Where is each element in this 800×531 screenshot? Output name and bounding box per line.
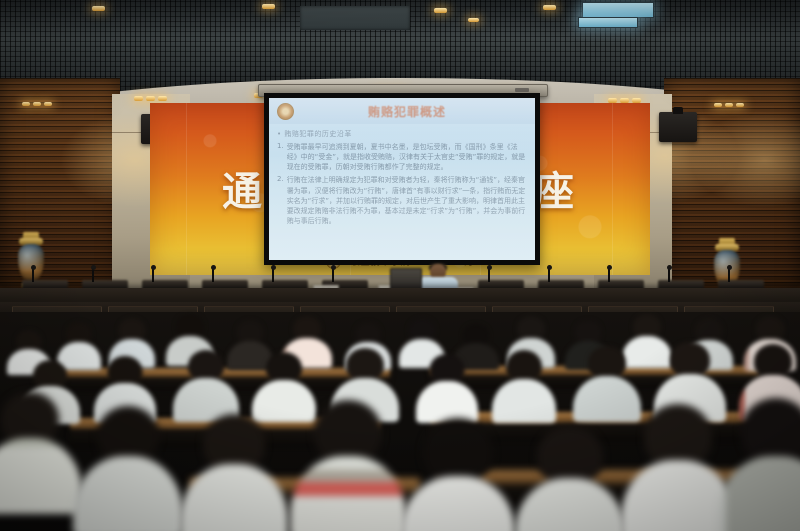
ceiling-downlight — [468, 18, 479, 22]
audience-member — [296, 400, 400, 531]
table-microphone — [608, 268, 610, 282]
ceiling-downlight — [262, 4, 275, 9]
table-microphone — [728, 268, 730, 282]
water-bottle — [600, 378, 607, 397]
government-emblem-icon — [277, 103, 294, 120]
projection-screen: 贿赂犯罪概述 • 贿赂犯罪的历史沿革 1. 受贿罪最早可追溯到夏朝，夏书中名墨，… — [264, 93, 540, 265]
slide-body: • 贿赂犯罪的历史沿革 1. 受贿罪最早可追溯到夏朝，夏书中名墨，是包坛受贿，而… — [269, 124, 535, 226]
table-microphone — [488, 268, 490, 282]
slide-title: 贿赂犯罪概述 — [294, 103, 520, 120]
water-bottle — [728, 470, 740, 504]
table-microphone — [668, 268, 670, 282]
soffit-spotlight — [736, 103, 744, 107]
soffit-spotlight — [146, 96, 155, 101]
slide-bullet-text: 行贿在法律上明确规定为犯罪和对受贿者为轻，秦将行贿称为“通钱”，经秦官署为罪，汉… — [287, 175, 527, 226]
ceiling-downlight — [543, 5, 556, 10]
water-bottle — [242, 393, 249, 412]
soffit-spotlight — [33, 102, 41, 106]
audience-member — [494, 350, 554, 420]
screen-roller-knob — [515, 88, 529, 92]
slide-bullet: 1. 受贿罪最早可追溯到夏朝，夏书中名墨，是包坛受贿，而《国刑》条里《法经》中的… — [277, 142, 527, 172]
water-bottle — [0, 488, 8, 522]
ceiling-downlight — [434, 8, 447, 13]
ceiling-light-panel-blue — [578, 17, 638, 28]
audience-member — [626, 404, 730, 531]
soffit-spotlight — [44, 102, 52, 106]
audience-member — [80, 406, 176, 531]
soffit-spotlight — [725, 103, 733, 107]
ceiling-downlight — [92, 6, 105, 11]
audience-member — [406, 418, 510, 531]
slide-content: 贿赂犯罪概述 • 贿赂犯罪的历史沿革 1. 受贿罪最早可追溯到夏朝，夏书中名墨，… — [269, 98, 535, 260]
ceiling-panel — [300, 6, 410, 30]
slide-bullet-text: 受贿罪最早可追溯到夏朝，夏书中名墨，是包坛受贿，而《国刑》条里《法经》中的“受金… — [287, 142, 527, 172]
slide-bullet: 2. 行贿在法律上明确规定为犯罪和对受贿者为轻，秦将行贿称为“通钱”，经秦官署为… — [277, 175, 527, 226]
slide-header: 贿赂犯罪概述 — [269, 98, 535, 124]
lecture-hall-photo: 通 座 职业技术学院 2007 6月 贿赂犯罪概述 • 贿赂犯罪的历史沿革 1.… — [0, 0, 800, 531]
table-microphone — [272, 268, 274, 282]
audience-member — [520, 426, 620, 531]
audience-member — [418, 354, 476, 420]
wall-speaker-right — [659, 112, 697, 142]
audience-member — [176, 350, 236, 420]
soffit-spotlight — [714, 103, 722, 107]
ceiling-light-panel-blue — [582, 2, 654, 18]
water-bottle — [500, 388, 507, 407]
table-microphone — [332, 268, 334, 282]
slide-bullet-number: 2. — [277, 175, 284, 226]
table-microphone — [548, 268, 550, 282]
table-microphone — [32, 268, 34, 282]
soffit-spotlight — [22, 102, 30, 106]
slide-bullet-number: 1. — [277, 142, 284, 172]
table-microphone — [92, 268, 94, 282]
soffit-spotlight — [134, 96, 143, 101]
audience-member — [0, 392, 76, 510]
banner-char-left: 通 — [222, 159, 266, 217]
slide-lead: • 贿赂犯罪的历史沿革 — [277, 129, 527, 139]
soffit-spotlight — [158, 96, 167, 101]
table-microphone — [212, 268, 214, 282]
audience-member — [186, 414, 282, 531]
audience-member — [722, 398, 800, 531]
table-microphone — [152, 268, 154, 282]
banner-char-right: 座 — [534, 159, 578, 217]
